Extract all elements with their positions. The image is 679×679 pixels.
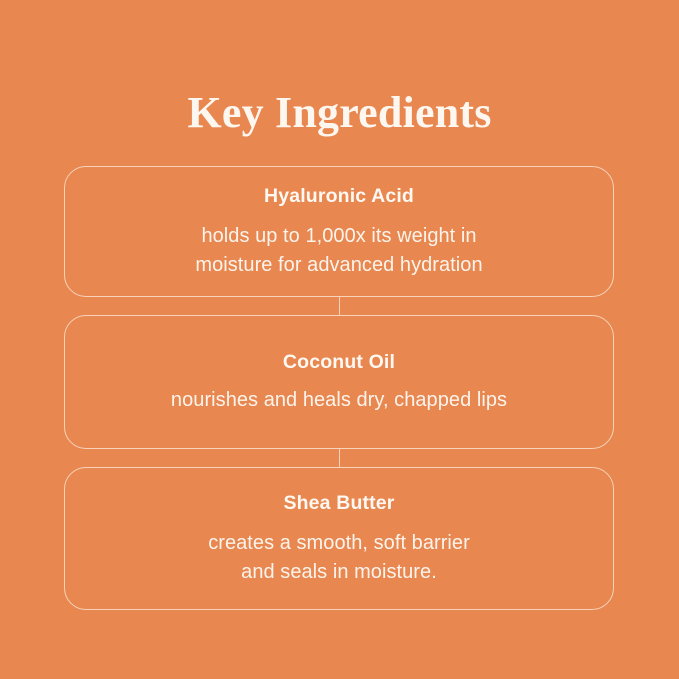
connector-line-1 bbox=[64, 297, 614, 315]
ingredient-description: nourishes and heals dry, chapped lips bbox=[153, 386, 525, 415]
ingredient-name: Coconut Oil bbox=[283, 350, 395, 374]
key-ingredients-infographic: Key Ingredients Hyaluronic Acid holds up… bbox=[0, 0, 679, 679]
ingredient-card-stack: Hyaluronic Acid holds up to 1,000x its w… bbox=[64, 166, 614, 610]
ingredient-name: Hyaluronic Acid bbox=[264, 184, 414, 208]
ingredient-card-coconut-oil: Coconut Oil nourishes and heals dry, cha… bbox=[64, 315, 614, 449]
connector-line-2 bbox=[64, 449, 614, 467]
ingredient-card-hyaluronic-acid: Hyaluronic Acid holds up to 1,000x its w… bbox=[64, 166, 614, 297]
page-title: Key Ingredients bbox=[0, 87, 679, 139]
ingredient-description: creates a smooth, soft barrier and seals… bbox=[190, 529, 488, 587]
ingredient-card-shea-butter: Shea Butter creates a smooth, soft barri… bbox=[64, 467, 614, 610]
ingredient-name: Shea Butter bbox=[283, 491, 394, 515]
ingredient-description: holds up to 1,000x its weight in moistur… bbox=[177, 222, 500, 280]
